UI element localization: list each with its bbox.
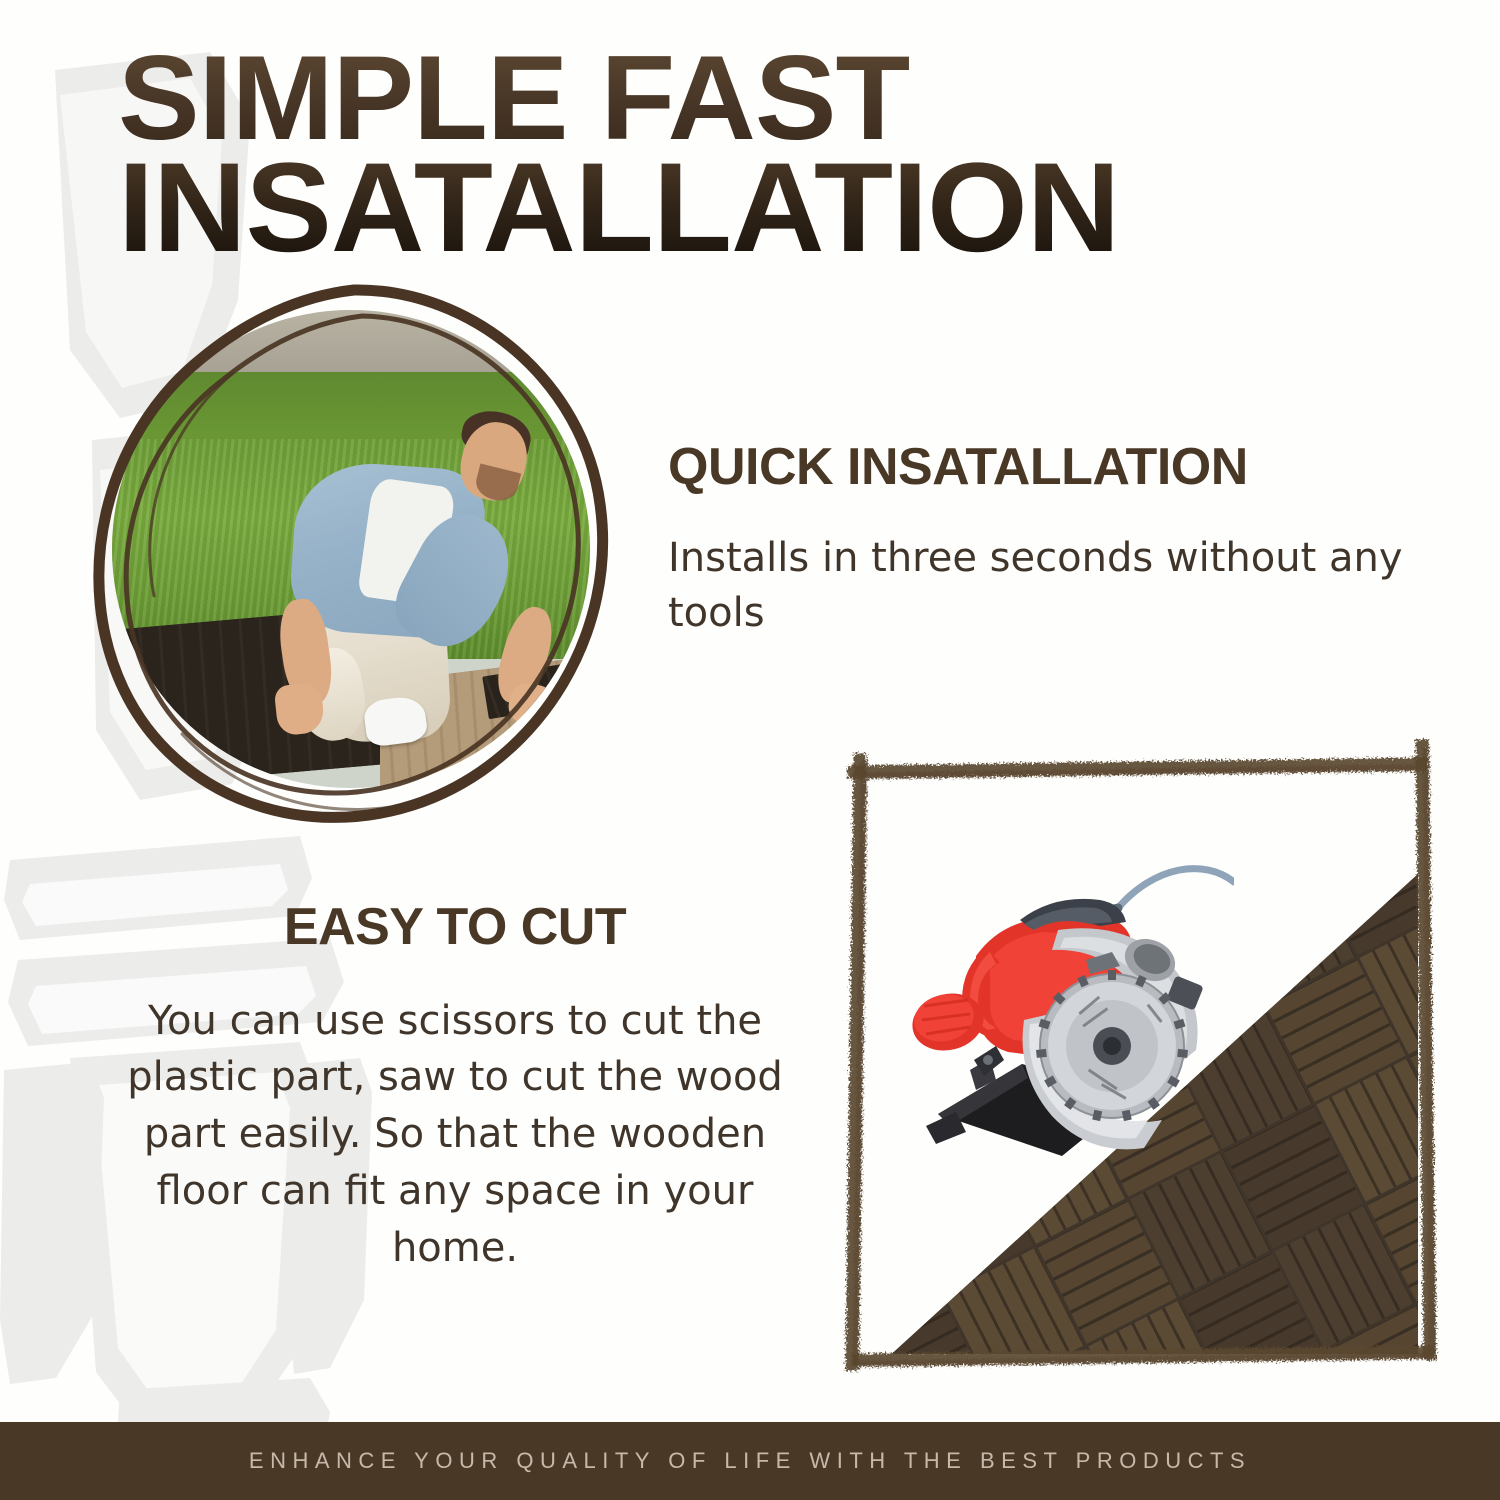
feature-easy-to-cut: EASY TO CUT You can use scissors to cut … xyxy=(110,900,800,1277)
saw-deck-image xyxy=(858,754,1418,1354)
footer-tagline: ENHANCE YOUR QUALITY OF LIFE WITH THE BE… xyxy=(249,1448,1251,1474)
footer-banner: ENHANCE YOUR QUALITY OF LIFE WITH THE BE… xyxy=(0,1422,1500,1500)
headline: SIMPLE FAST INSATALLATION xyxy=(118,46,1238,263)
feature-body-easy-to-cut: You can use scissors to cut the plastic … xyxy=(110,993,800,1277)
deck-tile xyxy=(1114,754,1254,803)
feature-heading-quick-installation: QUICK INSATALLATION xyxy=(668,440,1428,495)
installation-photo-circle xyxy=(72,278,632,848)
photo-scene xyxy=(112,310,590,788)
photo-person xyxy=(265,415,542,769)
poster-canvas: SIMPLE FAST INSATALLATION xyxy=(0,0,1500,1500)
installation-photo xyxy=(112,310,590,788)
deck-tile xyxy=(1207,754,1347,756)
circular-saw-icon xyxy=(904,864,1234,1184)
feature-quick-installation: QUICK INSATALLATION Installs in three se… xyxy=(668,440,1428,641)
deck-tile xyxy=(1257,754,1397,856)
feature-heading-easy-to-cut: EASY TO CUT xyxy=(110,900,800,955)
deck-tile xyxy=(1308,812,1418,955)
deck-tile xyxy=(858,1097,890,1240)
deck-tile xyxy=(1021,754,1161,851)
person-shoe xyxy=(362,695,428,748)
deck-tile xyxy=(858,1196,940,1339)
headline-line-2: INSATALLATION xyxy=(118,152,1260,264)
deck-tile xyxy=(858,850,881,993)
feature-body-quick-installation: Installs in three seconds without any to… xyxy=(668,531,1428,641)
saw-deck-panel xyxy=(836,734,1440,1378)
